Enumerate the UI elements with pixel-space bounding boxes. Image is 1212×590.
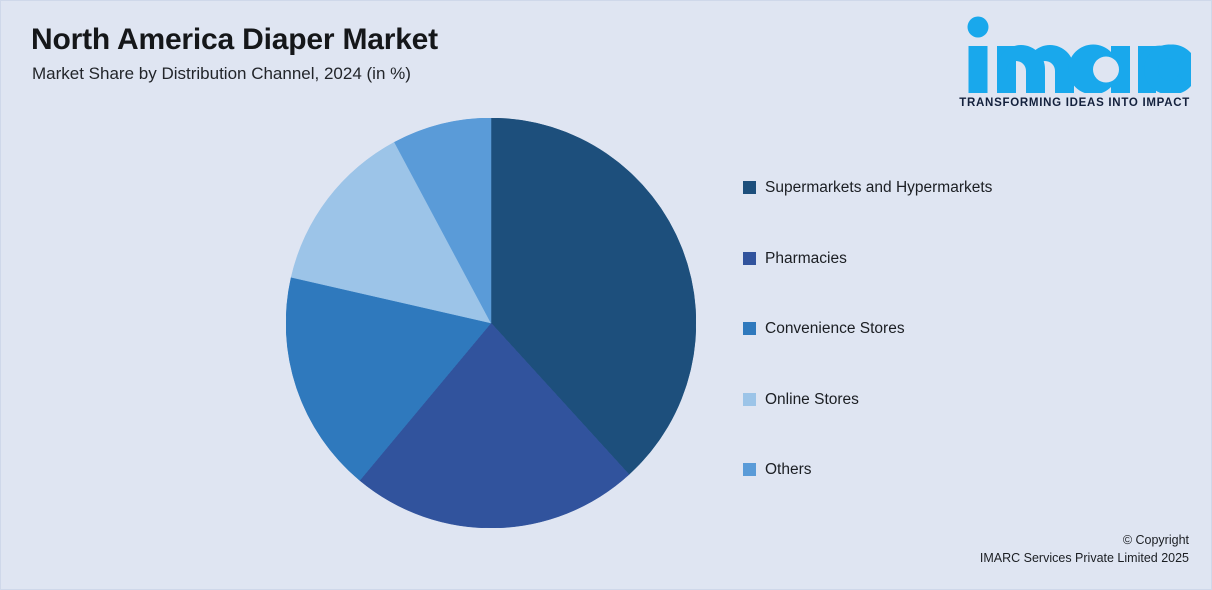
legend-item[interactable]: Pharmacies xyxy=(743,250,1183,267)
legend-item[interactable]: Supermarkets and Hypermarkets xyxy=(743,179,1183,196)
legend-item-label: Online Stores xyxy=(765,391,859,408)
legend-swatch-icon xyxy=(743,393,756,406)
legend-item-label: Pharmacies xyxy=(765,250,847,267)
legend-item-label: Convenience Stores xyxy=(765,320,905,337)
legend-swatch-icon xyxy=(743,463,756,476)
legend-swatch-icon xyxy=(743,181,756,194)
legend-item[interactable]: Convenience Stores xyxy=(743,320,1183,337)
imarc-logo: TRANSFORMING IDEAS INTO IMPACT xyxy=(951,15,1191,115)
imarc-wordmark-icon xyxy=(951,15,1191,93)
legend-item[interactable]: Online Stores xyxy=(743,391,1183,408)
legend-item-label: Others xyxy=(765,461,812,478)
imarc-tagline: TRANSFORMING IDEAS INTO IMPACT xyxy=(959,97,1190,109)
copyright-line-2: IMARC Services Private Limited 2025 xyxy=(980,549,1189,567)
legend-item[interactable]: Others xyxy=(743,461,1183,478)
copyright-line-1: © Copyright xyxy=(980,531,1189,549)
pie-slice-group xyxy=(286,118,696,528)
legend-swatch-icon xyxy=(743,252,756,265)
chart-subtitle: Market Share by Distribution Channel, 20… xyxy=(32,64,411,84)
pie-chart xyxy=(286,118,696,528)
copyright-notice: © Copyright IMARC Services Private Limit… xyxy=(980,531,1189,567)
chart-title: North America Diaper Market xyxy=(31,23,438,57)
chart-legend: Supermarkets and HypermarketsPharmaciesC… xyxy=(743,179,1183,532)
chart-canvas: North America Diaper Market Market Share… xyxy=(0,0,1212,590)
pie-chart-svg xyxy=(286,118,696,528)
legend-item-label: Supermarkets and Hypermarkets xyxy=(765,179,992,196)
legend-swatch-icon xyxy=(743,322,756,335)
